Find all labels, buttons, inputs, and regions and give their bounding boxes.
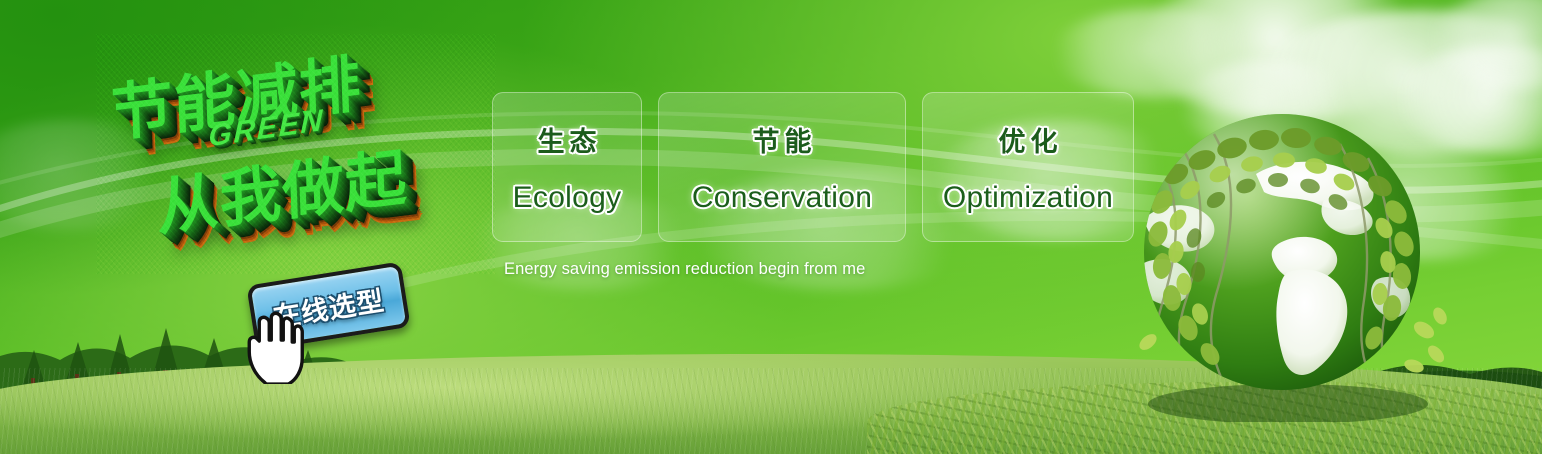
card-optimization[interactable]: 优化 Optimization	[922, 92, 1134, 242]
leafy-green-globe-icon	[1128, 104, 1450, 422]
card-conservation-cn: 节能	[748, 120, 817, 159]
card-conservation[interactable]: 节能 Conservation	[658, 92, 906, 242]
eco-hero-banner: 节能减排 从我做起 GREEN 在线选型 生态 Ecology 节能 Conse…	[0, 0, 1542, 454]
tagline-text: Energy saving emission reduction begin f…	[504, 260, 865, 279]
card-ecology-en: Ecology	[513, 181, 622, 215]
hand-pointer-icon	[244, 310, 306, 384]
card-optimization-cn: 优化	[994, 120, 1063, 159]
card-ecology-cn: 生态	[533, 120, 602, 159]
card-ecology[interactable]: 生态 Ecology	[492, 92, 642, 242]
headline-line-2: 从我做起	[155, 126, 408, 247]
card-conservation-en: Conservation	[692, 181, 872, 215]
headline-artwork: 节能减排 从我做起 GREEN	[96, 34, 496, 274]
feature-card-list: 生态 Ecology 节能 Conservation 优化 Optimizati…	[492, 92, 1134, 242]
card-optimization-en: Optimization	[943, 181, 1113, 215]
